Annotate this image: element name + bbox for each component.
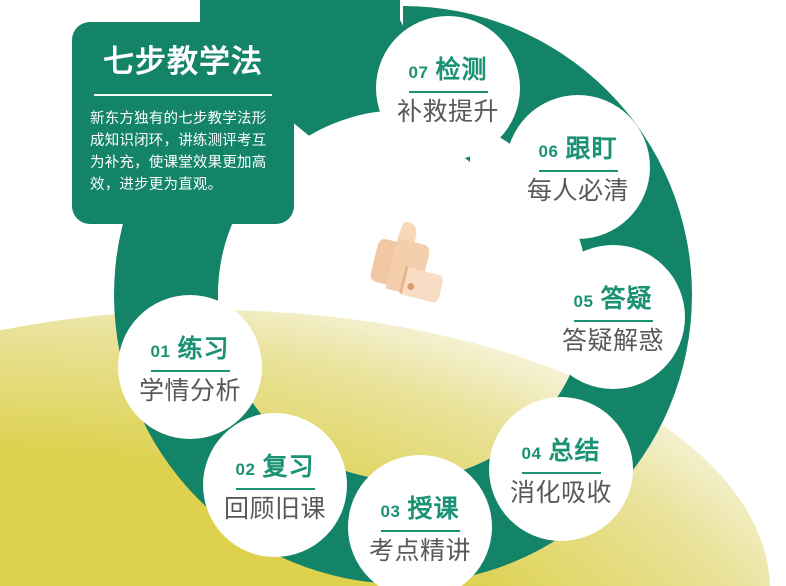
step-number: 07 [409, 63, 429, 83]
step-description: 每人必清 [527, 176, 629, 206]
thumbs-up-icon [352, 214, 454, 314]
step-number: 02 [236, 460, 256, 480]
step-heading: 05答疑 [574, 279, 653, 315]
title-card: 七步教学法 新东方独有的七步教学法形成知识闭环，讲练测评考互为补充，使课堂效果更… [72, 22, 294, 224]
step-number: 01 [151, 342, 171, 362]
step-name: 答疑 [600, 279, 652, 315]
step-heading: 06跟盯 [539, 129, 618, 165]
step-bubble-05[interactable]: 05答疑答疑解惑 [541, 245, 685, 389]
step-name: 跟盯 [565, 129, 617, 165]
step-number: 03 [381, 502, 401, 522]
step-heading: 04总结 [522, 431, 601, 467]
step-bubble-02[interactable]: 02复习回顾旧课 [203, 413, 347, 557]
step-heading: 07检测 [409, 50, 488, 86]
step-bubble-06[interactable]: 06跟盯每人必清 [506, 95, 650, 239]
step-description: 补救提升 [397, 97, 499, 127]
step-bubble-01[interactable]: 01练习学情分析 [118, 295, 262, 439]
step-heading: 01练习 [151, 329, 230, 365]
step-description: 回顾旧课 [224, 494, 326, 524]
step-name: 授课 [407, 489, 459, 525]
step-number: 06 [539, 142, 559, 162]
title-divider [94, 94, 272, 96]
title-description: 新东方独有的七步教学法形成知识闭环，讲练测评考互为补充，使课堂效果更加高效，进步… [90, 108, 276, 196]
step-number: 04 [522, 444, 542, 464]
step-description: 学情分析 [139, 376, 241, 406]
step-name: 复习 [262, 447, 314, 483]
step-bubble-03[interactable]: 03授课考点精讲 [348, 455, 492, 586]
seven-step-teaching-infographic: 七步教学法 新东方独有的七步教学法形成知识闭环，讲练测评考互为补充，使课堂效果更… [0, 0, 786, 586]
step-bubble-04[interactable]: 04总结消化吸收 [489, 397, 633, 541]
step-heading: 02复习 [236, 447, 315, 483]
step-divider [522, 472, 601, 474]
step-divider [539, 170, 618, 172]
step-description: 考点精讲 [369, 536, 471, 566]
step-divider [409, 91, 488, 93]
step-heading: 03授课 [381, 489, 460, 525]
step-description: 消化吸收 [510, 478, 612, 508]
step-description: 答疑解惑 [562, 326, 664, 356]
step-name: 检测 [435, 50, 487, 86]
step-bubble-07[interactable]: 07检测补救提升 [376, 16, 520, 160]
step-divider [381, 530, 460, 532]
step-divider [151, 370, 230, 372]
step-name: 总结 [548, 431, 600, 467]
step-divider [236, 488, 315, 490]
page-title: 七步教学法 [90, 42, 276, 82]
step-divider [574, 320, 653, 322]
step-number: 05 [574, 292, 594, 312]
step-name: 练习 [177, 329, 229, 365]
